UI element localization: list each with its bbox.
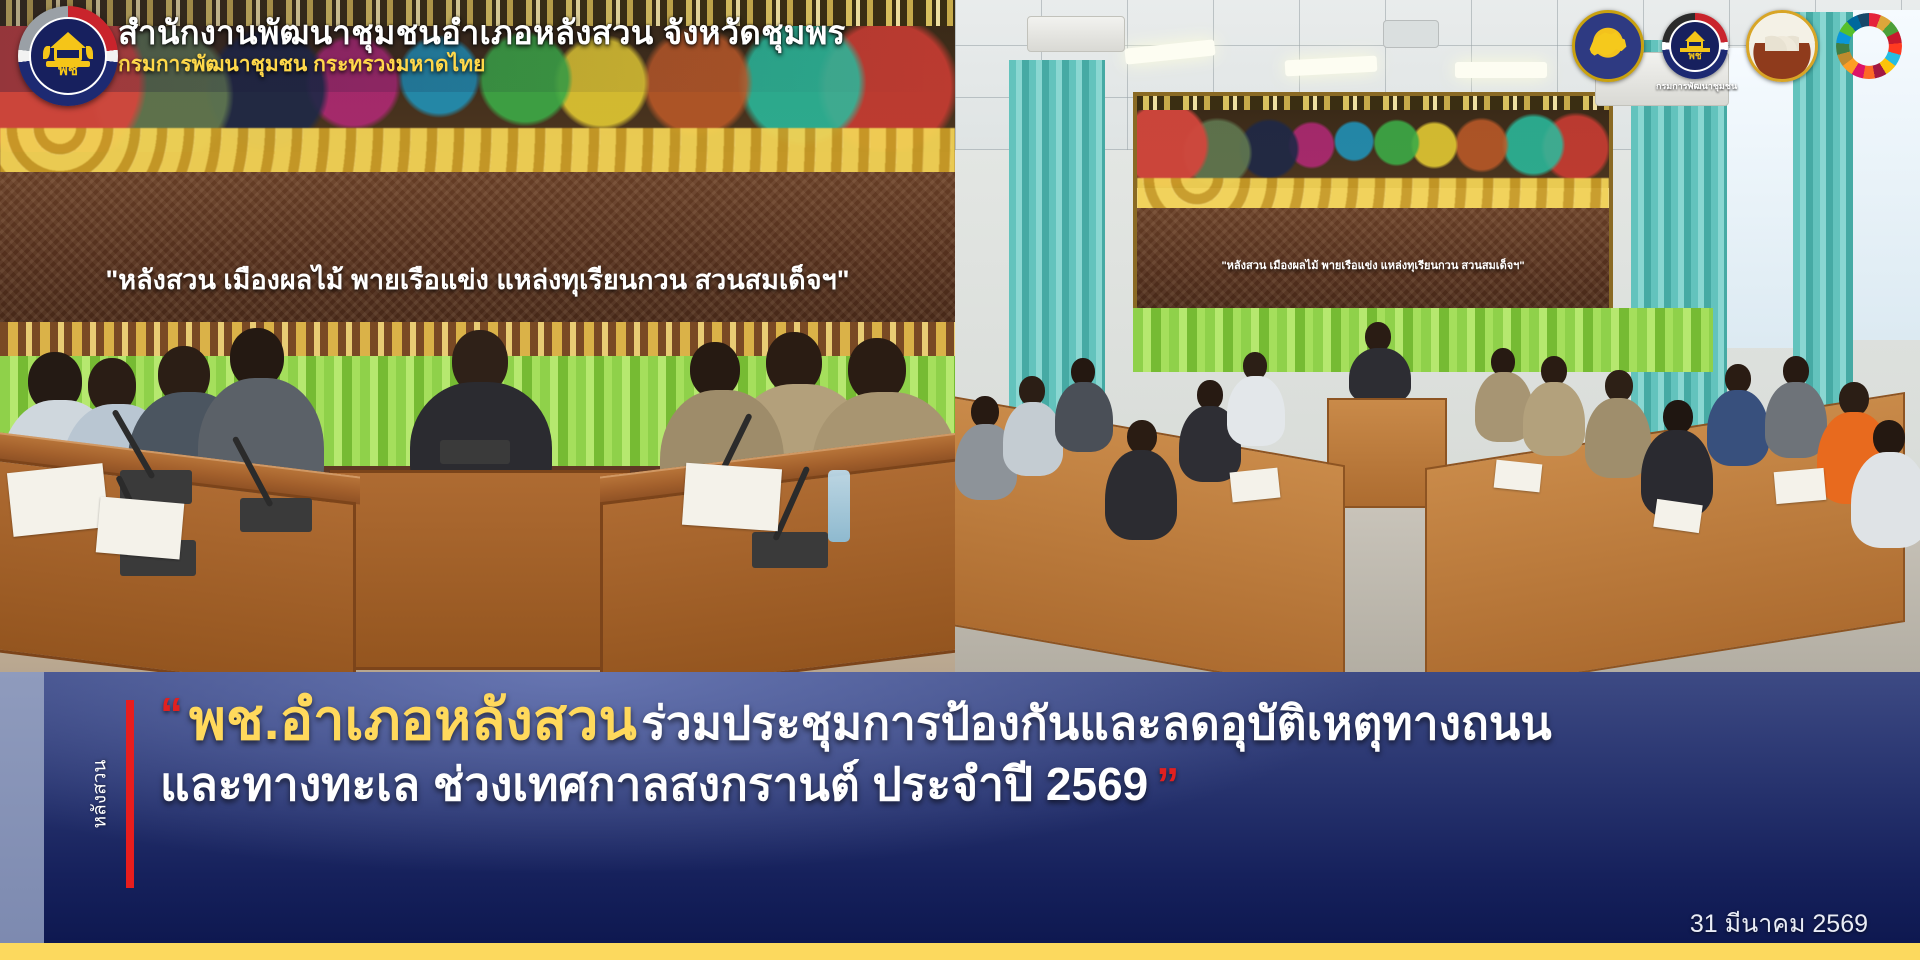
person-body	[1707, 390, 1769, 466]
chumphon-provincial-seal	[1746, 10, 1818, 82]
caption-line-2: และทางทะเล ช่วงเทศกาลสงกรานต์ ประจำปี 25…	[160, 756, 1760, 812]
backdrop-slogan-right: "หลังสวน เมืองผลไม้ พายเรือแข่ง แหล่งทุเ…	[1137, 256, 1609, 274]
pavilion-body-icon	[54, 47, 82, 61]
backdrop-slogan-left: "หลังสวน เมืองผลไม้ พายเรือแข่ง แหล่งทุเ…	[0, 258, 955, 301]
microphone-base-center	[440, 440, 510, 464]
head-table	[330, 470, 630, 670]
person-body	[1105, 450, 1177, 540]
caption-vertical-text: หลังสวน	[84, 760, 114, 829]
cdd-logo-inner: พช	[1669, 20, 1721, 72]
person-body	[1227, 376, 1285, 446]
cdd-emblem-inner: พช	[29, 17, 107, 95]
cdd-logo-caption: กรมการพัฒนาชุมชน	[1656, 79, 1734, 93]
cdd-thai-glyph: พช	[42, 63, 94, 78]
wall-backdrop-banner: "หลังสวน เมืองผลไม้ พายเรือแข่ง แหล่งทุเ…	[1133, 92, 1613, 312]
poster-root: "หลังสวน เมืองผลไม้ พายเรือแข่ง แหล่งทุเ…	[0, 0, 1920, 960]
microphone-base	[752, 532, 828, 568]
person-head	[1127, 420, 1157, 454]
person-body	[1851, 452, 1920, 548]
microphone-base	[240, 498, 312, 532]
temple-icon	[1765, 25, 1799, 51]
caption-text-block: “พช.อำเภอหลังสวน ร่วมประชุมการป้องกันและ…	[160, 686, 1760, 812]
person-body-chairman	[1349, 348, 1411, 404]
sdg-wheel-logo	[1836, 13, 1902, 79]
document-paper	[1774, 468, 1827, 504]
document-paper	[1230, 468, 1281, 503]
logo-row: พช กรมการพัฒนาชุมชน	[1572, 8, 1902, 84]
document-paper	[96, 496, 185, 559]
person-head	[1663, 400, 1693, 434]
person-body-officer	[1523, 382, 1585, 456]
photo-strip: "หลังสวน เมืองผลไม้ พายเรือแข่ง แหล่งทุเ…	[0, 0, 1920, 672]
air-conditioner	[1027, 16, 1125, 52]
meeting-head-table-photo: "หลังสวน เมืองผลไม้ พายเรือแข่ง แหล่งทุเ…	[0, 0, 955, 672]
caption-line2-text: และทางทะเล ช่วงเทศกาลสงกรานต์ ประจำปี 25…	[160, 758, 1148, 810]
ceiling-light	[1455, 62, 1547, 78]
caption-vertical-label: หลังสวน	[84, 700, 114, 888]
projector	[1383, 20, 1439, 48]
thai-pattern-border-top	[0, 0, 955, 26]
quote-open-mark: “	[160, 688, 183, 740]
quote-close-mark: ”	[1156, 758, 1179, 810]
pavilion-icon: พช	[1678, 31, 1712, 61]
cdd-emblem: พช	[18, 6, 118, 106]
community-development-department-logo: พช กรมการพัฒนาชุมชน	[1662, 13, 1728, 79]
ministry-of-interior-singha-logo	[1572, 10, 1644, 82]
caption-line1-rest: ร่วมประชุมการป้องกันและลดอุบัติเหตุทางถน…	[641, 697, 1552, 749]
person-head	[1839, 382, 1869, 416]
pavilion-icon: พช	[42, 32, 94, 80]
document-paper	[7, 463, 109, 537]
caption-date: 31 มีนาคม 2569	[1690, 904, 1868, 944]
flame-right-icon	[86, 46, 93, 59]
person-head	[1873, 420, 1905, 456]
window-pane	[1727, 48, 1793, 348]
cdd-thai-glyph: พช	[1678, 49, 1712, 64]
green-curtain	[1133, 308, 1713, 372]
water-bottle	[828, 470, 850, 542]
person-body	[1055, 382, 1113, 452]
person-body	[1003, 402, 1063, 476]
caption-highlight: พช.อำเภอหลังสวน	[189, 688, 637, 751]
meeting-room-wide-photo: "หลังสวน เมืองผลไม้ พายเรือแข่ง แหล่งทุเ…	[955, 0, 1920, 672]
bottom-gold-bar	[0, 943, 1920, 960]
document-paper	[682, 463, 782, 532]
document-paper	[1494, 460, 1543, 493]
singha-lion-icon	[1588, 30, 1628, 62]
caption-line-1: “พช.อำเภอหลังสวน ร่วมประชุมการป้องกันและ…	[160, 686, 1760, 754]
pavilion-roof-icon	[50, 32, 86, 48]
caption-red-accent-bar	[126, 700, 134, 888]
pavilion-body-icon	[1687, 40, 1703, 48]
flame-left-icon	[43, 46, 50, 59]
